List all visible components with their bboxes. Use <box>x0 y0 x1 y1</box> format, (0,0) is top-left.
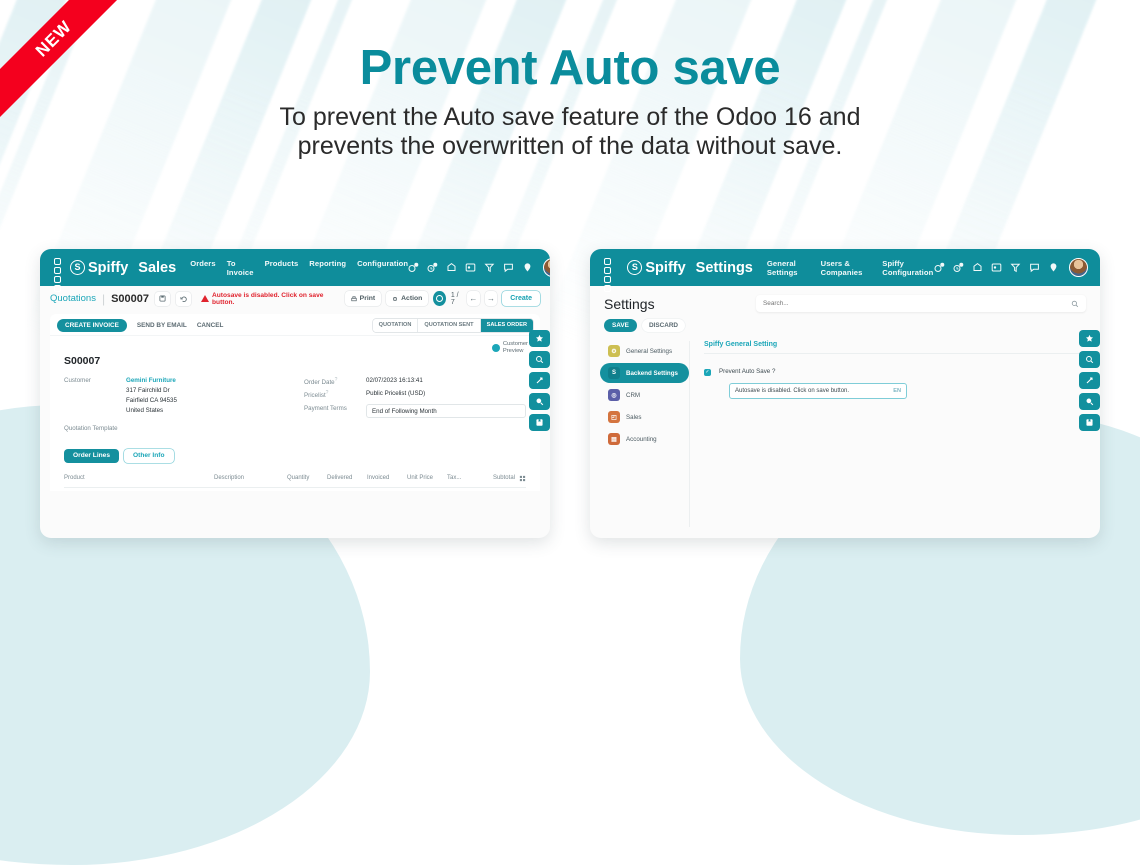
breadcrumb-separator: | <box>102 292 105 306</box>
form-column-right: Order Date? 02/07/2023 16:13:41 Pricelis… <box>304 376 526 435</box>
send-by-email-button[interactable]: SEND BY EMAIL <box>137 322 187 329</box>
settings-main-panel: Spiffy General Setting ✓ Prevent Auto Sa… <box>690 341 1100 527</box>
warning-triangle-icon <box>201 295 209 302</box>
autosave-warning: Autosave is disabled. Click on save butt… <box>201 292 339 306</box>
create-invoice-button[interactable]: CREATE INVOICE <box>57 319 127 332</box>
printer-icon <box>351 296 357 302</box>
customer-address-line1: 317 Fairchild Dr <box>126 386 177 396</box>
form-tabs: Order Lines Other Info <box>64 449 526 463</box>
sales-breadcrumb-bar: Quotations | S00007 Autosave is disabled… <box>40 286 550 311</box>
expand-icon[interactable] <box>1079 372 1100 389</box>
quotation-form-sheet: Customer Preview S00007 Customer Gemini … <box>50 336 540 491</box>
location-pin-icon[interactable] <box>522 262 533 273</box>
discard-button[interactable]: DISCARD <box>642 319 685 332</box>
print-cloud-icon[interactable] <box>972 262 983 273</box>
activities-icon[interactable] <box>953 262 964 273</box>
nav-item-spiffy-configuration[interactable]: Spiffy Configuration <box>882 259 934 277</box>
field-customer-label: Customer <box>64 376 126 384</box>
search-icon[interactable] <box>529 351 550 368</box>
nav-item-general-settings[interactable]: General Settings <box>767 259 810 277</box>
avatar[interactable] <box>1069 258 1088 277</box>
sales-sheet-wrapper: CREATE INVOICE SEND BY EMAIL CANCEL QUOT… <box>40 311 550 491</box>
action-label: Action <box>401 295 422 302</box>
search-box[interactable] <box>756 295 1086 312</box>
zoom-icon[interactable] <box>529 393 550 410</box>
field-order-date: Order Date? 02/07/2023 16:13:41 <box>304 376 526 386</box>
search-icon[interactable] <box>1079 351 1100 368</box>
apps-grid-icon[interactable] <box>54 258 61 278</box>
create-button[interactable]: Create <box>502 291 540 306</box>
settings-body: ⚙ General Settings S Backend Settings ◎ … <box>590 341 1100 527</box>
loading-circle-icon[interactable] <box>433 291 446 306</box>
th-subtotal: Subtotal <box>473 475 515 481</box>
autosave-message-input[interactable]: Autosave is disabled. Click on save butt… <box>729 383 907 399</box>
arrow-right-icon[interactable]: → <box>485 291 498 306</box>
th-tax: Tax... <box>447 475 473 481</box>
nav-item-users-companies[interactable]: Users & Companies <box>821 259 872 277</box>
brand-name: Spiffy <box>88 260 128 276</box>
sidebar-item-backend-settings[interactable]: S Backend Settings <box>600 363 689 383</box>
grid-apps-icon[interactable] <box>465 262 476 273</box>
sales-chart-icon: ◰ <box>608 411 620 423</box>
print-cloud-icon[interactable] <box>446 262 457 273</box>
save-button[interactable]: SAVE <box>604 319 637 332</box>
stage-sales-order[interactable]: SALES ORDER <box>480 319 533 332</box>
cloud-save-icon[interactable] <box>155 292 170 306</box>
prevent-auto-save-label: Prevent Auto Save ? <box>719 368 775 375</box>
autosave-message-value: Autosave is disabled. Click on save butt… <box>735 388 893 394</box>
field-order-date-label: Order Date? <box>304 376 366 386</box>
record-title: S00007 <box>64 355 526 367</box>
nav-item-to-invoice[interactable]: To Invoice <box>227 259 254 277</box>
zoom-icon[interactable] <box>1079 393 1100 410</box>
app-name: Settings <box>696 260 753 276</box>
breadcrumb-parent[interactable]: Quotations <box>50 293 96 304</box>
field-pricelist: Pricelist? Public Pricelist (USD) <box>304 389 526 399</box>
brand-logo[interactable]: S Spiffy <box>627 260 685 276</box>
tab-other-info[interactable]: Other Info <box>124 449 174 463</box>
settings-action-row: SAVE DISCARD <box>590 312 1100 332</box>
th-unit-price: Unit Price <box>407 475 447 481</box>
sales-nav-menu: Orders To Invoice Products Reporting Con… <box>190 259 408 277</box>
search-input[interactable] <box>763 300 1071 307</box>
action-button[interactable]: Action <box>386 291 428 306</box>
settings-navbar: S Spiffy Settings General Settings Users… <box>590 249 1100 286</box>
brand-logo[interactable]: S Spiffy <box>70 260 128 276</box>
customer-preview-button[interactable]: Customer Preview <box>492 341 528 355</box>
sales-navbar-right <box>408 258 550 277</box>
new-ribbon-label: NEW <box>0 0 118 118</box>
section-title: Spiffy General Setting <box>704 341 1080 348</box>
megaphone-icon[interactable] <box>1010 262 1021 273</box>
nav-item-configuration[interactable]: Configuration <box>357 259 408 277</box>
settings-page-title: Settings <box>604 296 655 312</box>
messages-icon[interactable] <box>934 262 945 273</box>
th-delivered: Delivered <box>327 475 367 481</box>
accounting-book-icon: ▤ <box>608 433 620 445</box>
gear-settings-icon: ⚙ <box>608 345 620 357</box>
nav-item-orders[interactable]: Orders <box>190 259 216 277</box>
expand-icon[interactable] <box>529 372 550 389</box>
sidebar-item-accounting[interactable]: ▤ Accounting <box>600 429 689 449</box>
grid-apps-icon[interactable] <box>991 262 1002 273</box>
location-pin-icon[interactable] <box>1048 262 1059 273</box>
sales-navbar: S Spiffy Sales Orders To Invoice Product… <box>40 249 550 286</box>
section-divider <box>704 353 1080 354</box>
th-invoiced: Invoiced <box>367 475 407 481</box>
pager-count: 1 / 7 <box>451 292 462 306</box>
prevent-auto-save-option: ✓ Prevent Auto Save ? <box>704 368 1080 376</box>
autosave-warning-text: Autosave is disabled. Click on save butt… <box>212 292 339 306</box>
chat-icon[interactable] <box>503 262 514 273</box>
customer-address-line3: United States <box>126 406 177 416</box>
stage-quotation[interactable]: QUOTATION <box>373 319 418 332</box>
gear-icon <box>392 296 398 302</box>
sidebar-item-label: General Settings <box>626 348 672 355</box>
form-columns: Customer Gemini Furniture 317 Fairchild … <box>64 376 526 435</box>
new-ribbon: NEW <box>0 0 118 118</box>
arrow-left-icon[interactable]: ← <box>467 291 480 306</box>
page-subtitle-line2: prevents the overwritten of the data wit… <box>0 132 1140 161</box>
print-button[interactable]: Print <box>345 291 381 306</box>
cancel-button[interactable]: CANCEL <box>197 322 224 329</box>
bookmark-icon[interactable] <box>1079 414 1100 431</box>
language-badge[interactable]: EN <box>893 388 901 394</box>
sidebar-item-label: CRM <box>626 392 640 399</box>
sales-side-toolbar <box>529 330 550 431</box>
field-quotation-template: Quotation Template <box>64 424 282 432</box>
sales-control-right: Print Action 1 / 7 ← → Create <box>345 291 540 306</box>
settings-sidebar: ⚙ General Settings S Backend Settings ◎ … <box>590 341 690 527</box>
brand-name: Spiffy <box>645 260 685 276</box>
field-pricelist-value[interactable]: Public Pricelist (USD) <box>366 389 425 399</box>
breadcrumb-current: S00007 <box>111 293 149 305</box>
search-icon[interactable] <box>1071 300 1079 308</box>
star-icon[interactable] <box>529 330 550 347</box>
activities-icon[interactable] <box>427 262 438 273</box>
bookmark-icon[interactable] <box>529 414 550 431</box>
apps-grid-icon[interactable] <box>604 258 618 278</box>
sidebar-item-label: Backend Settings <box>626 370 678 377</box>
undo-discard-icon[interactable] <box>176 292 191 306</box>
prevent-auto-save-checkbox[interactable]: ✓ <box>704 369 711 376</box>
customer-address-line2: Fairfield CA 94535 <box>126 396 177 406</box>
field-customer-value[interactable]: Gemini Furniture <box>126 376 177 386</box>
th-description: Description <box>214 475 287 481</box>
settings-navbar-right <box>934 258 1091 277</box>
settings-header: Settings <box>590 286 1100 312</box>
field-payment-terms-label: Payment Terms <box>304 404 366 412</box>
avatar[interactable] <box>543 258 550 277</box>
sidebar-item-label: Accounting <box>626 436 657 443</box>
chat-icon[interactable] <box>1029 262 1040 273</box>
sidebar-item-crm[interactable]: ◎ CRM <box>600 385 689 405</box>
tab-order-lines[interactable]: Order Lines <box>64 449 119 463</box>
nav-item-products[interactable]: Products <box>265 259 299 277</box>
field-pricelist-label: Pricelist? <box>304 389 366 399</box>
th-quantity: Quantity <box>287 475 327 481</box>
nav-item-reporting[interactable]: Reporting <box>309 259 346 277</box>
sidebar-item-sales[interactable]: ◰ Sales <box>600 407 689 427</box>
sidebar-item-general-settings[interactable]: ⚙ General Settings <box>600 341 689 361</box>
settings-nav-menu: General Settings Users & Companies Spiff… <box>767 259 934 277</box>
globe-icon <box>492 344 500 352</box>
sidebar-item-label: Sales <box>626 414 641 421</box>
order-lines-table-header: Product Description Quantity Delivered I… <box>64 475 526 488</box>
field-order-date-value[interactable]: 02/07/2023 16:13:41 <box>366 376 423 386</box>
spiffy-s-icon: S <box>608 367 620 379</box>
page-subtitle-line1: To prevent the Auto save feature of the … <box>0 103 1140 132</box>
messages-icon[interactable] <box>408 262 419 273</box>
field-customer: Customer Gemini Furniture 317 Fairchild … <box>64 376 282 416</box>
status-stages: QUOTATION QUOTATION SENT SALES ORDER <box>373 319 533 332</box>
customer-preview-line2: Preview <box>503 348 528 355</box>
sales-action-bar: CREATE INVOICE SEND BY EMAIL CANCEL QUOT… <box>50 314 540 336</box>
sales-app-screenshot: S Spiffy Sales Orders To Invoice Product… <box>40 249 550 538</box>
th-product: Product <box>64 475 214 481</box>
payment-terms-input[interactable]: End of Following Month <box>366 404 526 418</box>
settings-side-toolbar <box>1079 330 1100 431</box>
form-column-left: Customer Gemini Furniture 317 Fairchild … <box>64 376 282 435</box>
column-options-icon[interactable] <box>519 475 526 482</box>
app-name: Sales <box>138 260 176 276</box>
field-quotation-template-label: Quotation Template <box>64 424 118 432</box>
spiffy-s-icon: S <box>70 260 85 275</box>
spiffy-s-icon: S <box>627 260 642 275</box>
crm-icon: ◎ <box>608 389 620 401</box>
customer-preview-line1: Customer <box>503 341 528 348</box>
stage-quotation-sent[interactable]: QUOTATION SENT <box>417 319 479 332</box>
star-icon[interactable] <box>1079 330 1100 347</box>
megaphone-icon[interactable] <box>484 262 495 273</box>
page-title: Prevent Auto save <box>0 40 1140 96</box>
settings-app-screenshot: S Spiffy Settings General Settings Users… <box>590 249 1100 538</box>
print-label: Print <box>360 295 375 302</box>
page-subtitle: To prevent the Auto save feature of the … <box>0 103 1140 160</box>
field-payment-terms: Payment Terms End of Following Month <box>304 404 526 418</box>
